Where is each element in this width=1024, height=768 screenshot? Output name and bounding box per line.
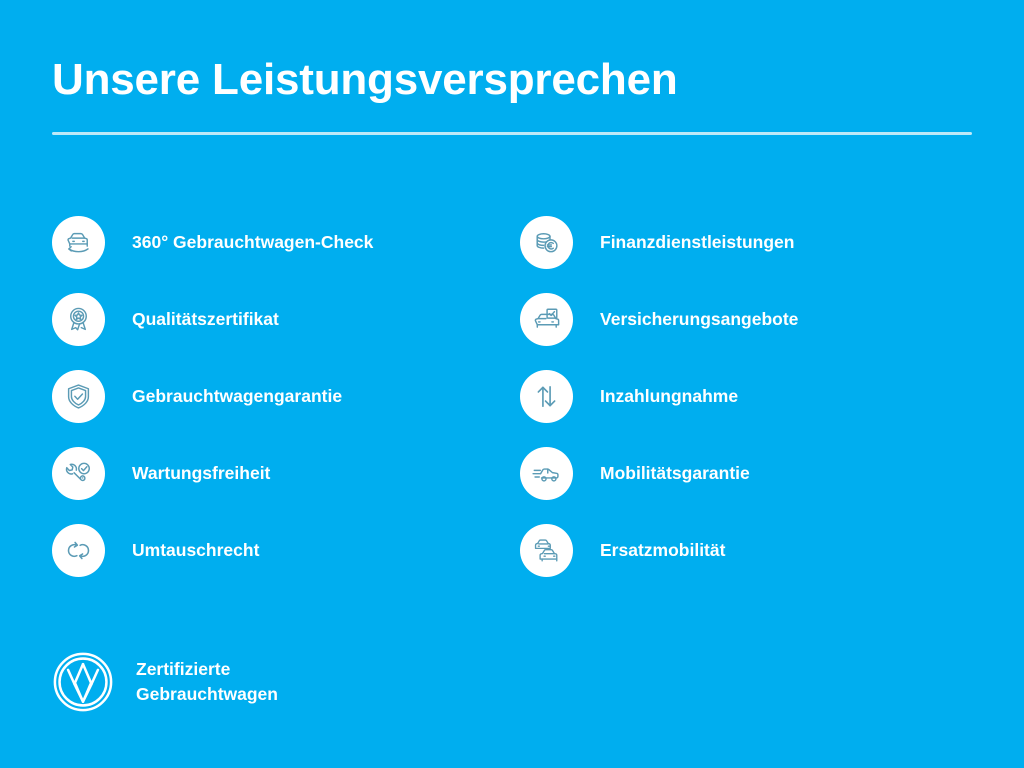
benefit-label: Finanzdienstleistungen [600,232,794,253]
brand-line-2: Gebrauchtwagen [136,682,278,707]
benefit-label: Gebrauchtwagengarantie [132,386,342,407]
volkswagen-logo-icon [52,651,114,713]
coins-euro-icon [520,216,573,269]
brand-lockup: Zertifizierte Gebrauchtwagen [52,651,278,713]
car-moving-icon [520,447,573,500]
benefit-item-360-check[interactable]: 360° Gebrauchtwagen-Check [52,204,520,281]
benefit-item-quality-certificate[interactable]: Qualitätszertifikat [52,281,520,358]
benefit-item-trade-in[interactable]: Inzahlungnahme [520,358,972,435]
award-rosette-icon [52,293,105,346]
brand-text: Zertifizierte Gebrauchtwagen [136,657,278,707]
brand-line-1: Zertifizierte [136,657,278,682]
benefit-label: Inzahlungnahme [600,386,738,407]
arrows-up-down-icon [520,370,573,423]
benefit-item-used-car-warranty[interactable]: Gebrauchtwagengarantie [52,358,520,435]
exchange-arrows-icon [52,524,105,577]
benefit-label: 360° Gebrauchtwagen-Check [132,232,373,253]
car-document-check-icon [520,293,573,346]
slide-root: Unsere Leistungsversprechen 360° Gebrauc… [0,0,1024,768]
benefit-label: Wartungsfreiheit [132,463,270,484]
benefits-grid: 360° Gebrauchtwagen-Check Finanzdienstle… [52,204,972,589]
benefit-item-financial-services[interactable]: Finanzdienstleistungen [520,204,972,281]
benefit-label: Ersatzmobilität [600,540,725,561]
shield-check-icon [52,370,105,423]
benefit-label: Mobilitätsgarantie [600,463,750,484]
benefit-item-mobility-guarantee[interactable]: Mobilitätsgarantie [520,435,972,512]
benefit-item-right-of-exchange[interactable]: Umtauschrecht [52,512,520,589]
wrench-check-icon [52,447,105,500]
page-title: Unsere Leistungsversprechen [52,52,678,108]
benefit-item-insurance-offers[interactable]: Versicherungsangebote [520,281,972,358]
benefit-label: Versicherungsangebote [600,309,798,330]
benefit-item-maintenance-free[interactable]: Wartungsfreiheit [52,435,520,512]
benefit-item-replacement-mobility[interactable]: Ersatzmobilität [520,512,972,589]
benefit-label: Qualitätszertifikat [132,309,279,330]
benefit-label: Umtauschrecht [132,540,259,561]
two-cars-icon [520,524,573,577]
title-divider [52,132,972,135]
car-360-check-icon [52,216,105,269]
